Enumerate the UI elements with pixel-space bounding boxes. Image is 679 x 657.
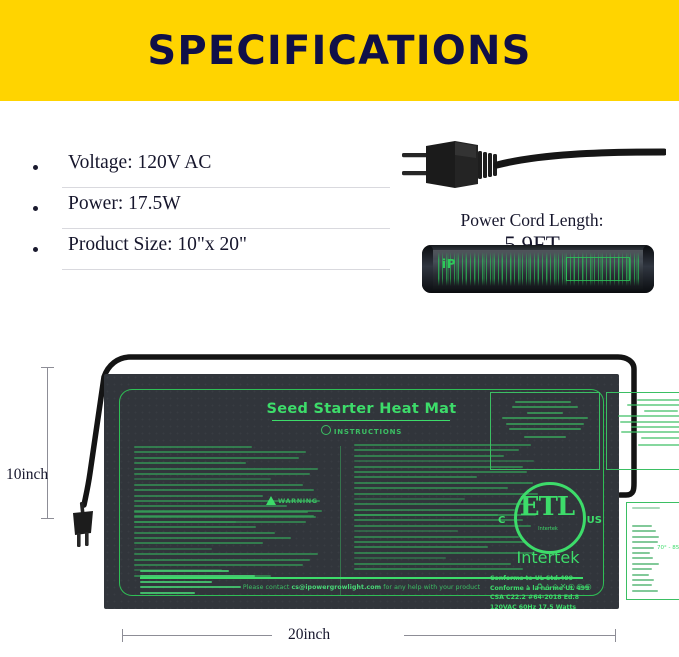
warning-triangle-icon	[266, 496, 276, 505]
roll-end-right	[643, 245, 654, 293]
etl-sub-label: Intertek	[492, 526, 604, 532]
info-box-english	[490, 392, 600, 470]
compliance-text: Conforms to UL Std.499 Conforme à la nor…	[490, 574, 620, 612]
instructions-label: INSTRUCTIONS	[334, 428, 402, 436]
roll-print-box	[566, 257, 630, 281]
mat-column-divider	[340, 446, 341, 596]
footer-email: cs@ipowergrowlight.com	[291, 584, 381, 591]
etl-brand: Intertek	[492, 548, 604, 567]
spec-divider	[62, 269, 390, 270]
spec-text-voltage: Voltage: 120V AC	[68, 152, 211, 174]
height-dim-cap-top	[41, 367, 54, 368]
product-spec-image: SPECIFICATIONS Voltage: 120V AC Power: 1…	[0, 0, 679, 657]
germination-temperature-chart: 70° - 85° (F)	[626, 502, 679, 600]
width-dimension-line-left	[122, 635, 272, 636]
width-dim-cap-right	[615, 629, 616, 642]
width-dimension-line-right	[404, 635, 616, 636]
mat-footer-divider	[140, 577, 583, 579]
cord-length-caption: Power Cord Length:	[398, 210, 666, 231]
spec-text-power: Power: 17.5W	[68, 193, 181, 215]
roll-end-left	[422, 245, 433, 293]
bullet-icon	[33, 165, 38, 170]
compliance-line-4: 120VAC 60Hz 17.5 Watts	[490, 603, 620, 613]
info-box-french	[606, 392, 679, 470]
warning-heading: WARNING	[266, 496, 318, 505]
footer-text-before: Please contact	[243, 584, 292, 591]
chart-crop-labels	[632, 525, 660, 595]
width-dimension-label: 20inch	[288, 626, 330, 644]
spec-divider	[62, 187, 390, 188]
etl-c-letter: C	[498, 515, 505, 526]
heat-mat-body: Seed Starter Heat Mat INSTRUCTIONS	[104, 374, 619, 609]
chart-temperature-range: 70° - 85° (F)	[657, 545, 679, 551]
instructions-icon	[321, 425, 331, 435]
spec-divider	[62, 228, 390, 229]
warning-label: WARNING	[278, 497, 318, 505]
bullet-icon	[33, 247, 38, 252]
compliance-line-3: CSA C22.2 #64-2018 Ed.8	[490, 593, 620, 603]
page-title: SPECIFICATIONS	[147, 31, 531, 71]
heat-mat-illustration: Seed Starter Heat Mat INSTRUCTIONS	[60, 355, 636, 617]
power-plug-icon	[400, 136, 666, 198]
height-dim-cap-bottom	[41, 518, 54, 519]
power-cord-block: Power Cord Length: 5.9FT	[398, 136, 666, 258]
etl-us-letter: US	[587, 515, 602, 526]
spec-row-voltage: Voltage: 120V AC	[24, 152, 390, 193]
width-dim-cap-left	[122, 629, 123, 642]
roll-logo: iP	[442, 257, 456, 271]
footer-text-after: for any help with your product	[381, 584, 480, 591]
specs-list: Voltage: 120V AC Power: 17.5W Product Si…	[24, 152, 390, 275]
bullet-icon	[33, 206, 38, 211]
mat-title-underline	[272, 420, 450, 421]
etl-letters: ETL	[514, 494, 580, 520]
height-dimension-label: 10inch	[6, 466, 48, 484]
spec-text-size: Product Size: 10"x 20"	[68, 234, 247, 256]
care-symbols: ♻△◇✕◎◎◎	[536, 582, 593, 591]
spec-row-size: Product Size: 10"x 20"	[24, 234, 390, 275]
etl-certification-mark: ETL Intertek C US Intertek	[492, 482, 604, 568]
height-dimension-line	[47, 367, 48, 519]
header-banner: SPECIFICATIONS	[0, 0, 679, 101]
rolled-mat-image: iP	[422, 245, 654, 293]
spec-row-power: Power: 17.5W	[24, 193, 390, 234]
